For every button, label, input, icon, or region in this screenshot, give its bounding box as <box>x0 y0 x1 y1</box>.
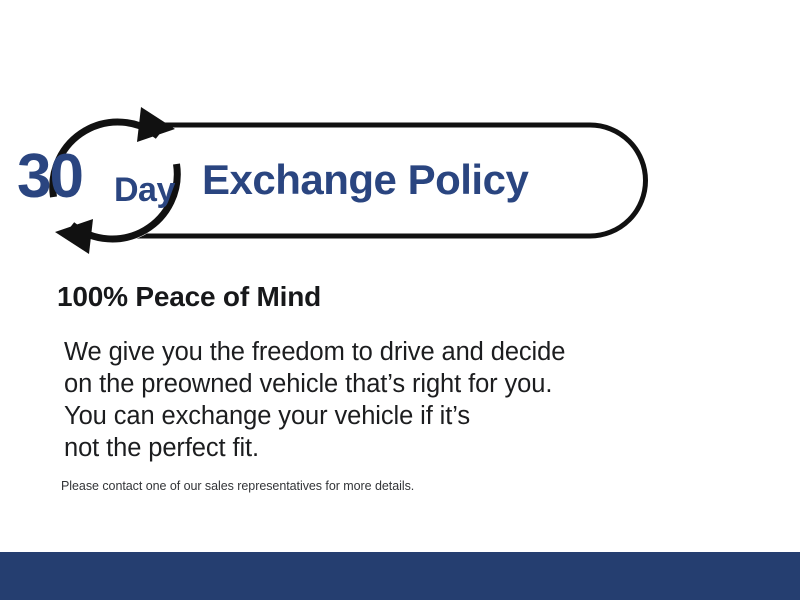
bottom-accent-band <box>0 552 800 600</box>
fine-print-disclaimer: Please contact one of our sales represen… <box>61 479 414 493</box>
body-line: You can exchange your vehicle if it’s <box>64 400 565 432</box>
subheading: 100% Peace of Mind <box>57 281 321 313</box>
body-line: We give you the freedom to drive and dec… <box>64 336 565 368</box>
header-lockup-graphic: 30 Day Exchange Policy <box>0 85 700 265</box>
slide-canvas: 30 Day Exchange Policy 100% Peace of Min… <box>0 0 800 600</box>
badge-number: 30 <box>17 142 82 211</box>
policy-header-lockup: 30 Day Exchange Policy <box>0 85 700 265</box>
badge-unit: Day <box>114 171 175 209</box>
body-copy: We give you the freedom to drive and dec… <box>64 336 565 464</box>
body-line: not the perfect fit. <box>64 432 565 464</box>
body-line: on the preowned vehicle that’s right for… <box>64 368 565 400</box>
policy-title: Exchange Policy <box>202 156 529 203</box>
